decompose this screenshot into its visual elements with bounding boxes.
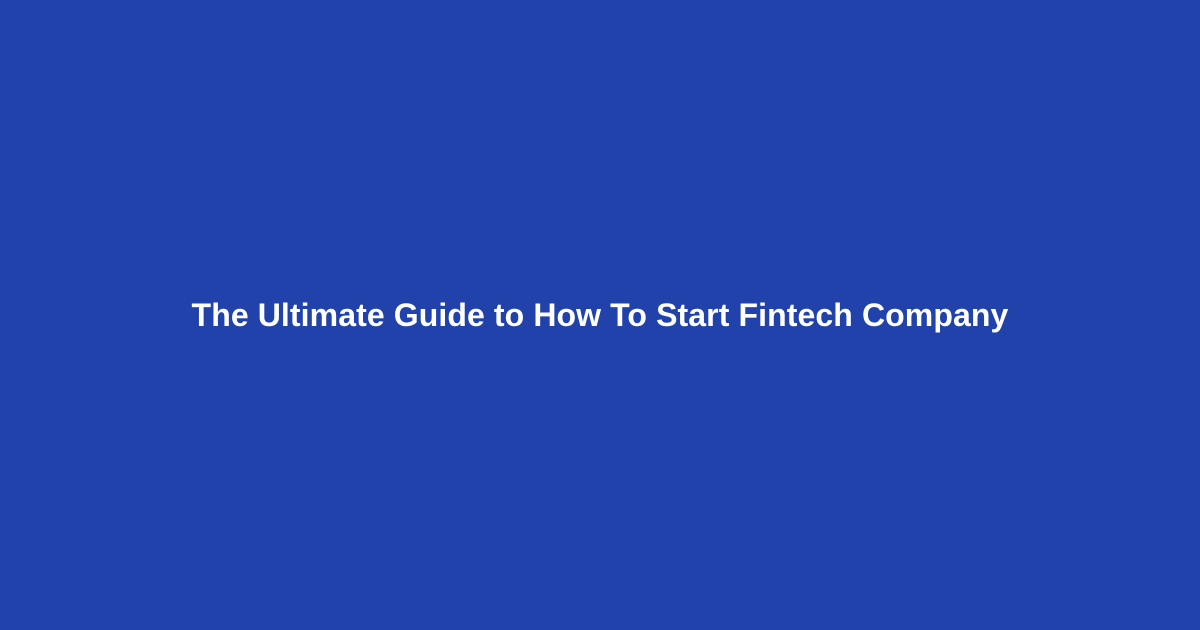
card-title: The Ultimate Guide to How To Start Finte… xyxy=(192,294,1009,336)
social-share-card: The Ultimate Guide to How To Start Finte… xyxy=(0,0,1200,630)
card-content: The Ultimate Guide to How To Start Finte… xyxy=(0,294,1200,336)
